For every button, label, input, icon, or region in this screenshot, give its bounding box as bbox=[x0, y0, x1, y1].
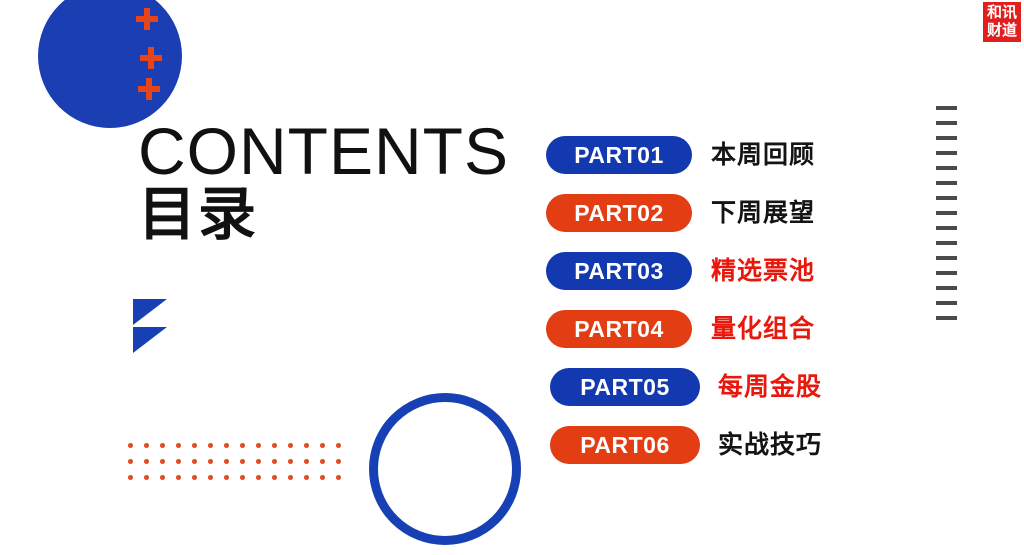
grid-dot bbox=[336, 443, 341, 448]
grid-dot bbox=[176, 475, 181, 480]
part-badge-part02[interactable]: PART02 bbox=[546, 194, 692, 232]
grid-dot bbox=[320, 443, 325, 448]
grid-dot bbox=[192, 475, 197, 480]
dash-mark bbox=[936, 151, 957, 155]
part-badge-part05[interactable]: PART05 bbox=[550, 368, 700, 406]
part-badge-part06[interactable]: PART06 bbox=[550, 426, 700, 464]
grid-dot bbox=[208, 443, 213, 448]
dot-grid-decoration bbox=[128, 443, 352, 491]
slide-canvas: CONTENTS 目录 和讯 财道 PART01本周回顾PART02下周展望PA… bbox=[0, 0, 1024, 555]
grid-dot bbox=[288, 475, 293, 480]
grid-dot bbox=[288, 459, 293, 464]
filled-circle-icon bbox=[38, 0, 182, 128]
part-badge-part03[interactable]: PART03 bbox=[546, 252, 692, 290]
grid-dot bbox=[240, 475, 245, 480]
grid-dot bbox=[240, 459, 245, 464]
dash-mark bbox=[936, 166, 957, 170]
grid-dot bbox=[224, 475, 229, 480]
grid-dot bbox=[144, 475, 149, 480]
grid-dot bbox=[128, 443, 133, 448]
grid-dot bbox=[320, 475, 325, 480]
grid-dot bbox=[256, 459, 261, 464]
grid-dot bbox=[272, 443, 277, 448]
grid-dot bbox=[176, 459, 181, 464]
dash-mark bbox=[936, 181, 957, 185]
grid-dot bbox=[256, 443, 261, 448]
dash-mark bbox=[936, 316, 957, 320]
grid-dot bbox=[272, 475, 277, 480]
grid-dot bbox=[224, 459, 229, 464]
grid-dot bbox=[288, 443, 293, 448]
grid-dot bbox=[336, 459, 341, 464]
page-title-chinese: 目录 bbox=[138, 186, 258, 244]
grid-dot bbox=[176, 443, 181, 448]
grid-dot bbox=[320, 459, 325, 464]
grid-dot bbox=[272, 459, 277, 464]
dash-mark bbox=[936, 136, 957, 140]
grid-dot bbox=[144, 443, 149, 448]
grid-dot bbox=[224, 443, 229, 448]
grid-dot bbox=[304, 443, 309, 448]
dash-mark bbox=[936, 256, 957, 260]
dash-column-decoration bbox=[936, 106, 957, 320]
contents-item-label: 精选票池 bbox=[711, 254, 815, 288]
dash-mark bbox=[936, 121, 957, 125]
contents-item-label: 每周金股 bbox=[718, 370, 822, 404]
grid-dot bbox=[160, 459, 165, 464]
grid-dot bbox=[256, 475, 261, 480]
grid-dot bbox=[208, 475, 213, 480]
dash-mark bbox=[936, 286, 957, 290]
dash-mark bbox=[936, 301, 957, 305]
contents-item-label: 下周展望 bbox=[711, 196, 815, 230]
brand-logo: 和讯 财道 bbox=[983, 2, 1021, 42]
dash-mark bbox=[936, 106, 957, 110]
dash-mark bbox=[936, 241, 957, 245]
grid-dot bbox=[336, 475, 341, 480]
grid-dot bbox=[128, 459, 133, 464]
plus-icon bbox=[140, 47, 162, 69]
brand-logo-line1: 和讯 bbox=[987, 4, 1017, 22]
brand-logo-line2: 财道 bbox=[987, 22, 1017, 40]
dash-mark bbox=[936, 226, 957, 230]
grid-dot bbox=[208, 459, 213, 464]
dash-mark bbox=[936, 196, 957, 200]
grid-dot bbox=[192, 459, 197, 464]
grid-dot bbox=[128, 475, 133, 480]
lightning-bolt-icon bbox=[133, 299, 175, 353]
grid-dot bbox=[240, 443, 245, 448]
grid-dot bbox=[304, 459, 309, 464]
page-title-english: CONTENTS bbox=[138, 118, 509, 184]
dash-mark bbox=[936, 211, 957, 215]
grid-dot bbox=[160, 443, 165, 448]
part-badge-part01[interactable]: PART01 bbox=[546, 136, 692, 174]
grid-dot bbox=[160, 475, 165, 480]
grid-dot bbox=[192, 443, 197, 448]
circle-outline-icon bbox=[369, 393, 521, 545]
contents-item-label: 量化组合 bbox=[711, 312, 815, 346]
part-badge-part04[interactable]: PART04 bbox=[546, 310, 692, 348]
contents-item-label: 实战技巧 bbox=[718, 428, 822, 462]
plus-icon bbox=[138, 78, 160, 100]
grid-dot bbox=[304, 475, 309, 480]
contents-item-label: 本周回顾 bbox=[711, 138, 815, 172]
grid-dot bbox=[144, 459, 149, 464]
plus-icon bbox=[136, 8, 158, 30]
dash-mark bbox=[936, 271, 957, 275]
